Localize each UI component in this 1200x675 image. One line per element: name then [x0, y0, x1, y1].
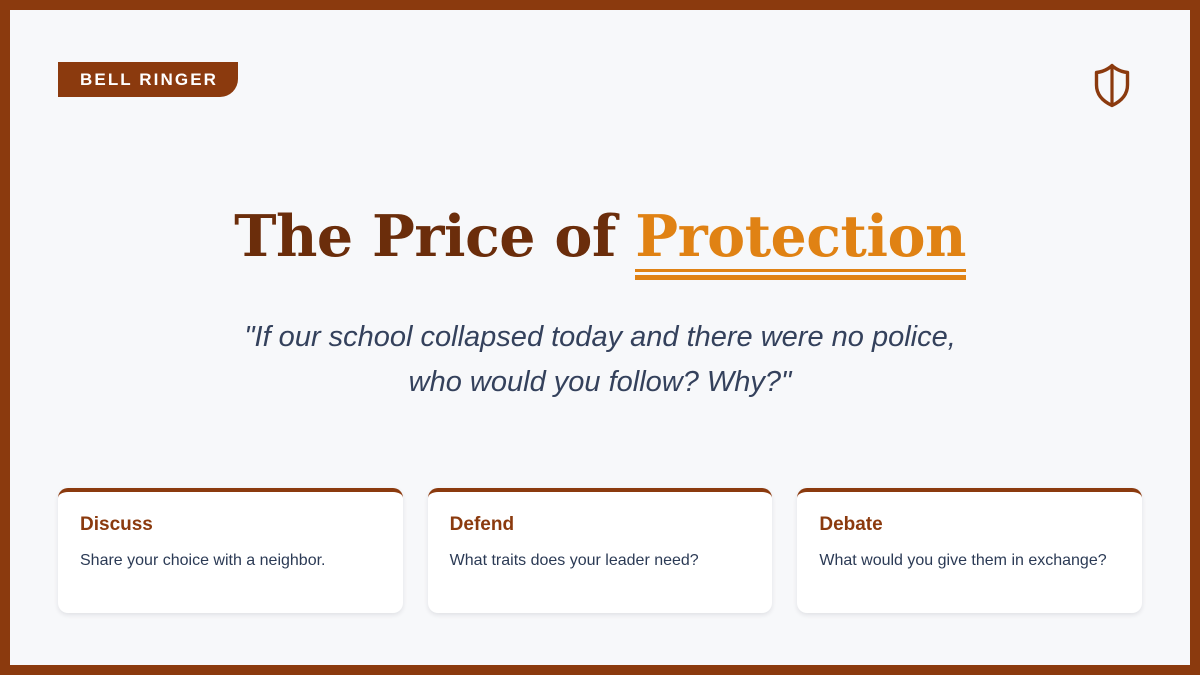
- shield-icon: [1092, 62, 1132, 108]
- subtitle-line-2: who would you follow? Why?": [180, 360, 1020, 405]
- prompt-card-defend: Defend What traits does your leader need…: [428, 488, 773, 613]
- page-title: The Price of Protection: [10, 206, 1190, 270]
- subtitle-quote: "If our school collapsed today and there…: [180, 315, 1020, 405]
- prompt-card-debate: Debate What would you give them in excha…: [797, 488, 1142, 613]
- title-accent: Protection: [635, 206, 966, 270]
- slide-frame: BELL RINGER The Price of Protection "If …: [0, 0, 1200, 675]
- title-lead: The Price of: [234, 203, 635, 270]
- badge-label: BELL RINGER: [80, 71, 218, 88]
- card-body: What would you give them in exchange?: [819, 549, 1120, 572]
- card-title: Debate: [819, 514, 1120, 537]
- card-body: Share your choice with a neighbor.: [80, 549, 381, 572]
- subtitle-line-1: "If our school collapsed today and there…: [180, 315, 1020, 360]
- slide-canvas: BELL RINGER The Price of Protection "If …: [10, 10, 1190, 665]
- card-body: What traits does your leader need?: [450, 549, 751, 572]
- card-title: Defend: [450, 514, 751, 537]
- card-title: Discuss: [80, 514, 381, 537]
- title-text: The Price of Protection: [10, 206, 1190, 270]
- bell-ringer-badge: BELL RINGER: [58, 62, 238, 97]
- prompt-card-list: Discuss Share your choice with a neighbo…: [58, 488, 1142, 613]
- prompt-card-discuss: Discuss Share your choice with a neighbo…: [58, 488, 403, 613]
